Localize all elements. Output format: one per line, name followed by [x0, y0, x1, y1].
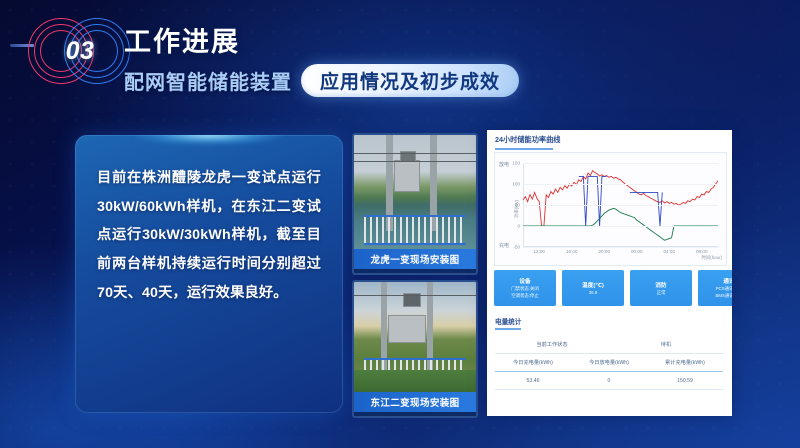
chart-y-tick-label: 100: [512, 182, 520, 187]
chart-x-tick-label: 08:00: [696, 249, 708, 254]
page-title: 工作进展: [124, 20, 240, 59]
table-header-cell-0: 今日充电量(kWh): [495, 359, 571, 366]
table-value-cell-0: 53.46: [495, 378, 571, 384]
axis-discharge-label: 放电: [499, 161, 509, 168]
highlight-pill-label: 应用情况及初步成效: [320, 67, 500, 94]
table-row-status: 当前工作状态 待机: [495, 336, 723, 354]
table-header-cell-1: 今日放电量(kWh): [571, 359, 647, 366]
summary-text: 目前在株洲醴陵龙虎一变试点运行30kW/60kWh样机，在东江二变试点运行30k…: [75, 135, 343, 307]
highlight-pill: 应用情况及初步成效: [301, 64, 519, 97]
dashboard-title-rule: [495, 148, 553, 150]
table-row-values: 53.460150.59: [495, 372, 723, 390]
status-tile-line: 正常: [657, 290, 666, 296]
status-tile-line: PCS通讯正常: [716, 286, 732, 292]
dashboard-title: 24小时储能功率曲线: [495, 135, 561, 145]
chart-x-tick-label: 16:00: [566, 249, 578, 254]
section-number-badge: 03: [24, 14, 132, 86]
dashboard-panel[interactable]: 24小时储能功率曲线 放电 充电 功率(kW) 时间(hour) 1501005…: [487, 130, 732, 416]
grass-graphic: [354, 370, 476, 392]
status-tile-line: 门禁状态:关闭: [511, 286, 539, 292]
photo-card-longhu[interactable]: 龙虎一变现场安装图: [352, 133, 478, 275]
status-label-cell: 当前工作状态: [495, 341, 609, 348]
slide-header: 03 工作进展 配网智能储能装置 应用情况及初步成效: [0, 0, 800, 118]
chart-x-tick-label: 12:00: [533, 249, 545, 254]
chart-y-tick-label: 150: [512, 161, 520, 166]
energy-stats-table: 当前工作状态 待机 今日充电量(kWh)今日放电量(kWh)累计充电量(kWh)…: [495, 336, 723, 390]
cabinet-box-icon: [388, 315, 426, 343]
status-tile-0[interactable]: 设备门禁状态:关闭空调状态:停止: [494, 270, 556, 306]
photo-scene-longhu: [354, 135, 476, 249]
chart-series-line: [523, 208, 718, 240]
subtitle-row: 配网智能储能装置 应用情况及初步成效: [124, 64, 519, 97]
chart-gridline: [523, 247, 718, 248]
power-curve-card: 放电 充电 功率(kW) 时间(hour) 150100500-5012:001…: [494, 152, 727, 266]
status-tile-line: 36.9: [589, 290, 598, 296]
section-number: 03: [53, 37, 107, 66]
fence-graphic: [364, 215, 467, 245]
status-tile-line: BMS通讯正常: [715, 293, 732, 299]
status-tile-head: 通讯: [723, 277, 732, 285]
photo-card-dongjiang[interactable]: 东江二变现场安装图: [352, 280, 478, 418]
power-wire-1: [354, 153, 476, 154]
table-value-cell-1: 0: [571, 378, 647, 384]
photo-caption-longhu-text: 龙虎一变现场安装图: [370, 252, 459, 266]
axis-charge-label: 充电: [499, 242, 509, 249]
chart-x-tick-label: 04:00: [664, 249, 676, 254]
chart-x-tick-label: 00:00: [631, 249, 643, 254]
chart-gridline: [523, 184, 718, 185]
status-tile-3[interactable]: 通讯PCS通讯正常BMS通讯正常: [698, 270, 732, 306]
power-wire-3: [354, 295, 476, 296]
photo-scene-dongjiang: [354, 282, 476, 392]
chart-series-line: [523, 171, 718, 226]
stats-title: 电量统计: [495, 316, 521, 326]
stats-title-rule: [495, 328, 521, 330]
photo-image-dongjiang: [354, 282, 476, 392]
slide-root: 03 工作进展 配网智能储能装置 应用情况及初步成效 目前在株洲醴陵龙虎一变试点…: [0, 0, 800, 448]
status-tile-line: 空调状态:停止: [511, 293, 539, 299]
status-tile-row: 设备门禁状态:关闭空调状态:停止温度(℃)36.9消防正常通讯PCS通讯正常BM…: [494, 270, 732, 306]
page-subtitle: 配网智能储能装置: [124, 66, 292, 95]
status-tile-1[interactable]: 温度(℃)36.9: [562, 270, 624, 306]
chart-gridline: [523, 163, 718, 164]
power-wire-2: [354, 161, 476, 162]
photo-caption-longhu: 龙虎一变现场安装图: [354, 249, 476, 269]
status-tile-head: 温度(℃): [582, 281, 604, 289]
table-header-cell-2: 累计充电量(kWh): [647, 359, 723, 366]
chart-x-tick-label: 20:00: [599, 249, 611, 254]
status-tile-2[interactable]: 消防正常: [630, 270, 692, 306]
chart-gridline: [523, 226, 718, 227]
status-tile-head: 设备: [519, 277, 530, 285]
status-tile-head: 消防: [655, 281, 666, 289]
chart-xlabel: 时间(hour): [702, 255, 723, 261]
chart-y-tick-label: 50: [515, 203, 520, 208]
summary-text-card: 目前在株洲醴陵龙虎一变试点运行30kW/60kWh样机，在东江二变试点运行30k…: [75, 135, 343, 413]
chart-y-tick-label: -50: [513, 245, 520, 250]
power-curve-chart: 150100500-5012:0016:0020:0000:0004:0008:…: [523, 163, 718, 247]
chart-y-tick-label: 0: [517, 224, 520, 229]
photo-caption-dongjiang: 东江二变现场安装图: [354, 392, 476, 412]
transformer-box-icon: [394, 160, 420, 192]
table-row-headers: 今日充电量(kWh)今日放电量(kWh)累计充电量(kWh): [495, 354, 723, 372]
photo-image-longhu: [354, 135, 476, 249]
table-value-cell-2: 150.59: [647, 378, 723, 384]
status-value-cell: 待机: [609, 341, 723, 348]
photo-caption-dongjiang-text: 东江二变现场安装图: [370, 395, 459, 409]
chart-gridline: [523, 205, 718, 206]
